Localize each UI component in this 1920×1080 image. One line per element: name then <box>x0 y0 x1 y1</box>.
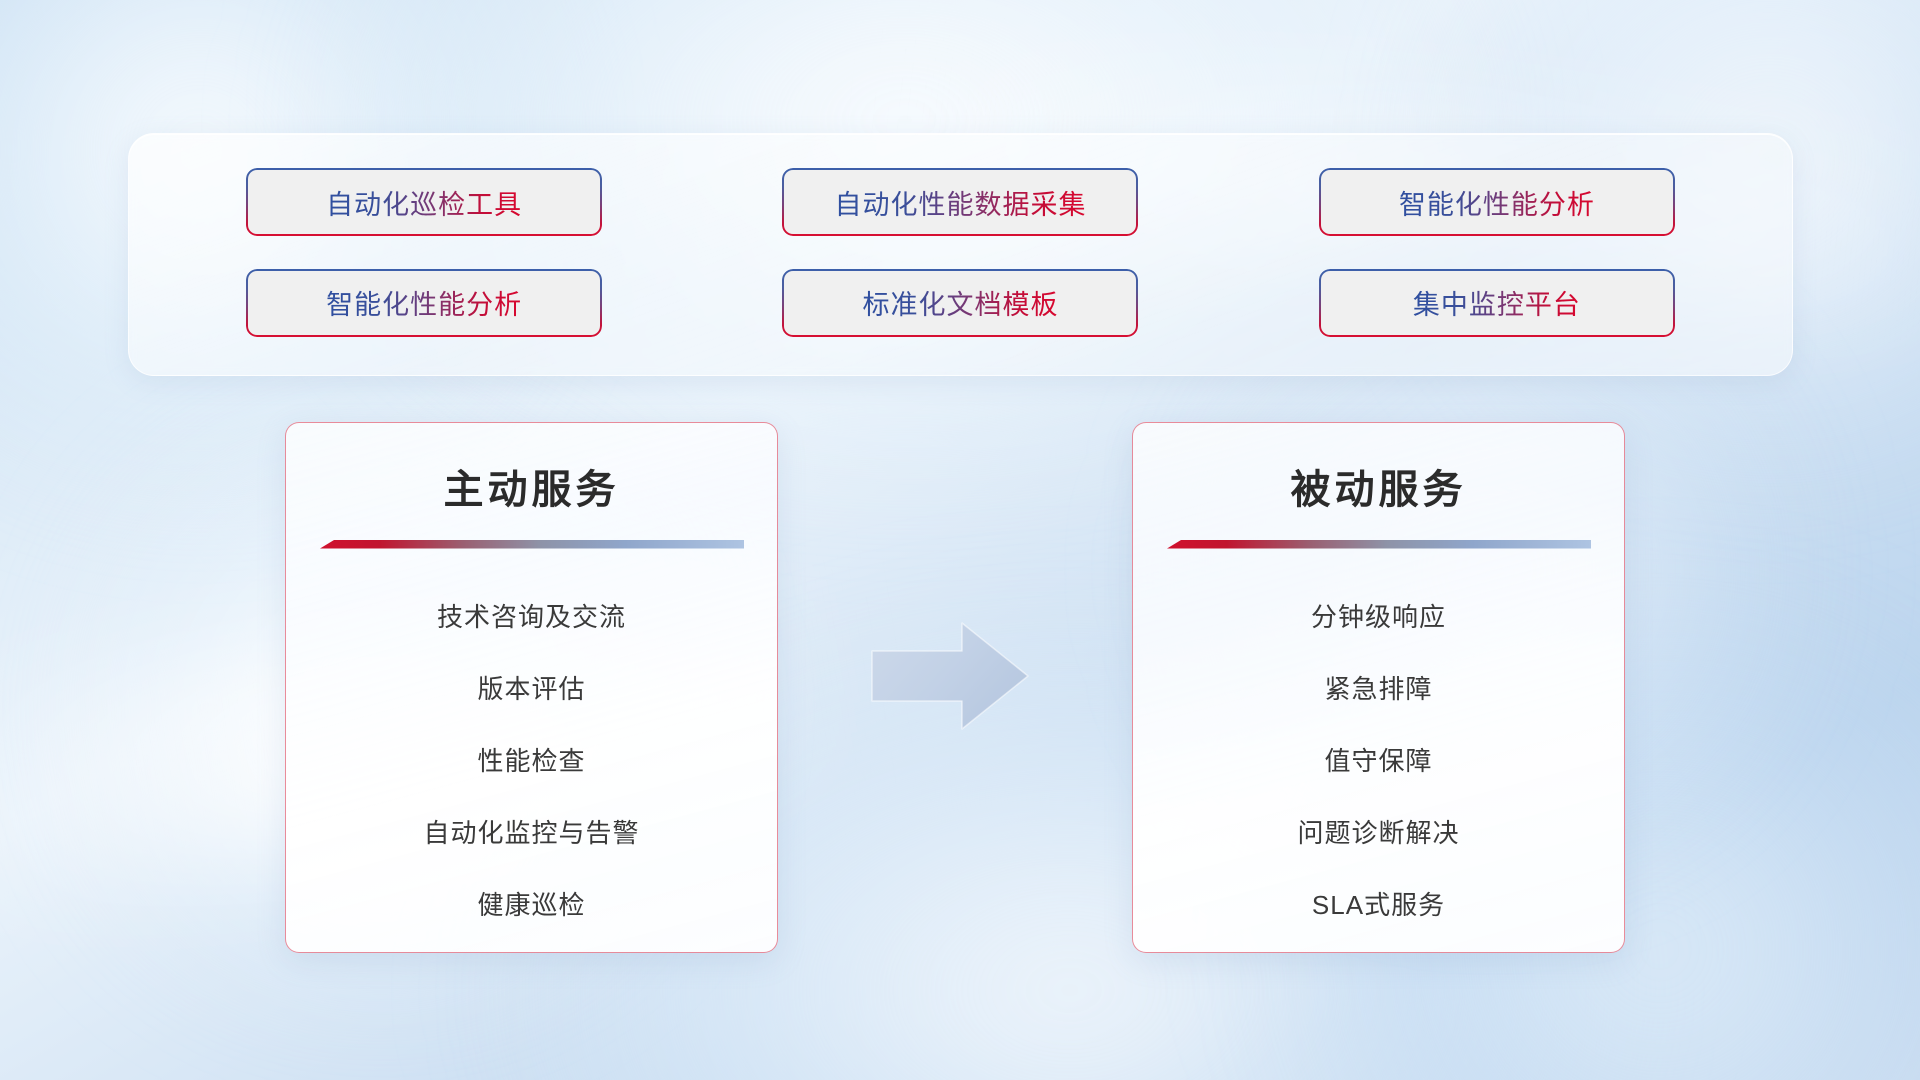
capability-chip-5[interactable]: 集中监控平台 <box>1319 269 1675 337</box>
service-card-reactive[interactable]: 被动服务 分钟级响应 紧急排障 值守保障 <box>1132 422 1625 953</box>
capability-chip-label: 标准化文档模板 <box>862 283 1058 322</box>
service-card-title: 被动服务 <box>1133 457 1624 515</box>
capability-chip-label: 自动化性能数据采集 <box>834 183 1086 222</box>
slide-canvas: 自动化巡检工具 自动化性能数据采集 智能化性能分析 智能化性能分析 标准化文档模… <box>0 0 1920 1080</box>
service-item: 分钟级响应 <box>1133 581 1624 653</box>
capability-chip-label: 自动化巡检工具 <box>326 183 522 222</box>
service-item: 性能检查 <box>286 725 777 797</box>
service-item: 紧急排障 <box>1133 653 1624 725</box>
capability-chip-2[interactable]: 智能化性能分析 <box>1319 168 1675 236</box>
service-item: 版本评估 <box>286 653 777 725</box>
service-card-title: 主动服务 <box>286 457 777 515</box>
service-card-proactive[interactable]: 主动服务 技术咨询及交流 版本评估 性能检查 <box>285 422 778 953</box>
capability-chip-panel: 自动化巡检工具 自动化性能数据采集 智能化性能分析 智能化性能分析 标准化文档模… <box>128 133 1793 376</box>
service-item: 自动化监控与告警 <box>286 797 777 869</box>
service-item: SLA式服务 <box>1133 869 1624 941</box>
service-item-list: 技术咨询及交流 版本评估 性能检查 自动化监控与告警 健康巡检 <box>286 581 777 941</box>
service-item: 值守保障 <box>1133 725 1624 797</box>
capability-chip-label: 智能化性能分析 <box>1399 183 1595 222</box>
title-divider <box>1167 539 1591 549</box>
service-item: 问题诊断解决 <box>1133 797 1624 869</box>
service-item-list: 分钟级响应 紧急排障 值守保障 问题诊断解决 SLA式服务 <box>1133 581 1624 941</box>
capability-chip-0[interactable]: 自动化巡检工具 <box>246 168 602 236</box>
service-item: 健康巡检 <box>286 869 777 941</box>
right-arrow-icon <box>870 621 1030 731</box>
service-item: 技术咨询及交流 <box>286 581 777 653</box>
capability-chip-label: 智能化性能分析 <box>326 283 522 322</box>
title-divider <box>320 539 744 549</box>
capability-chip-3[interactable]: 智能化性能分析 <box>246 269 602 337</box>
capability-chip-label: 集中监控平台 <box>1413 283 1581 322</box>
capability-chip-4[interactable]: 标准化文档模板 <box>782 269 1138 337</box>
capability-chip-1[interactable]: 自动化性能数据采集 <box>782 168 1138 236</box>
